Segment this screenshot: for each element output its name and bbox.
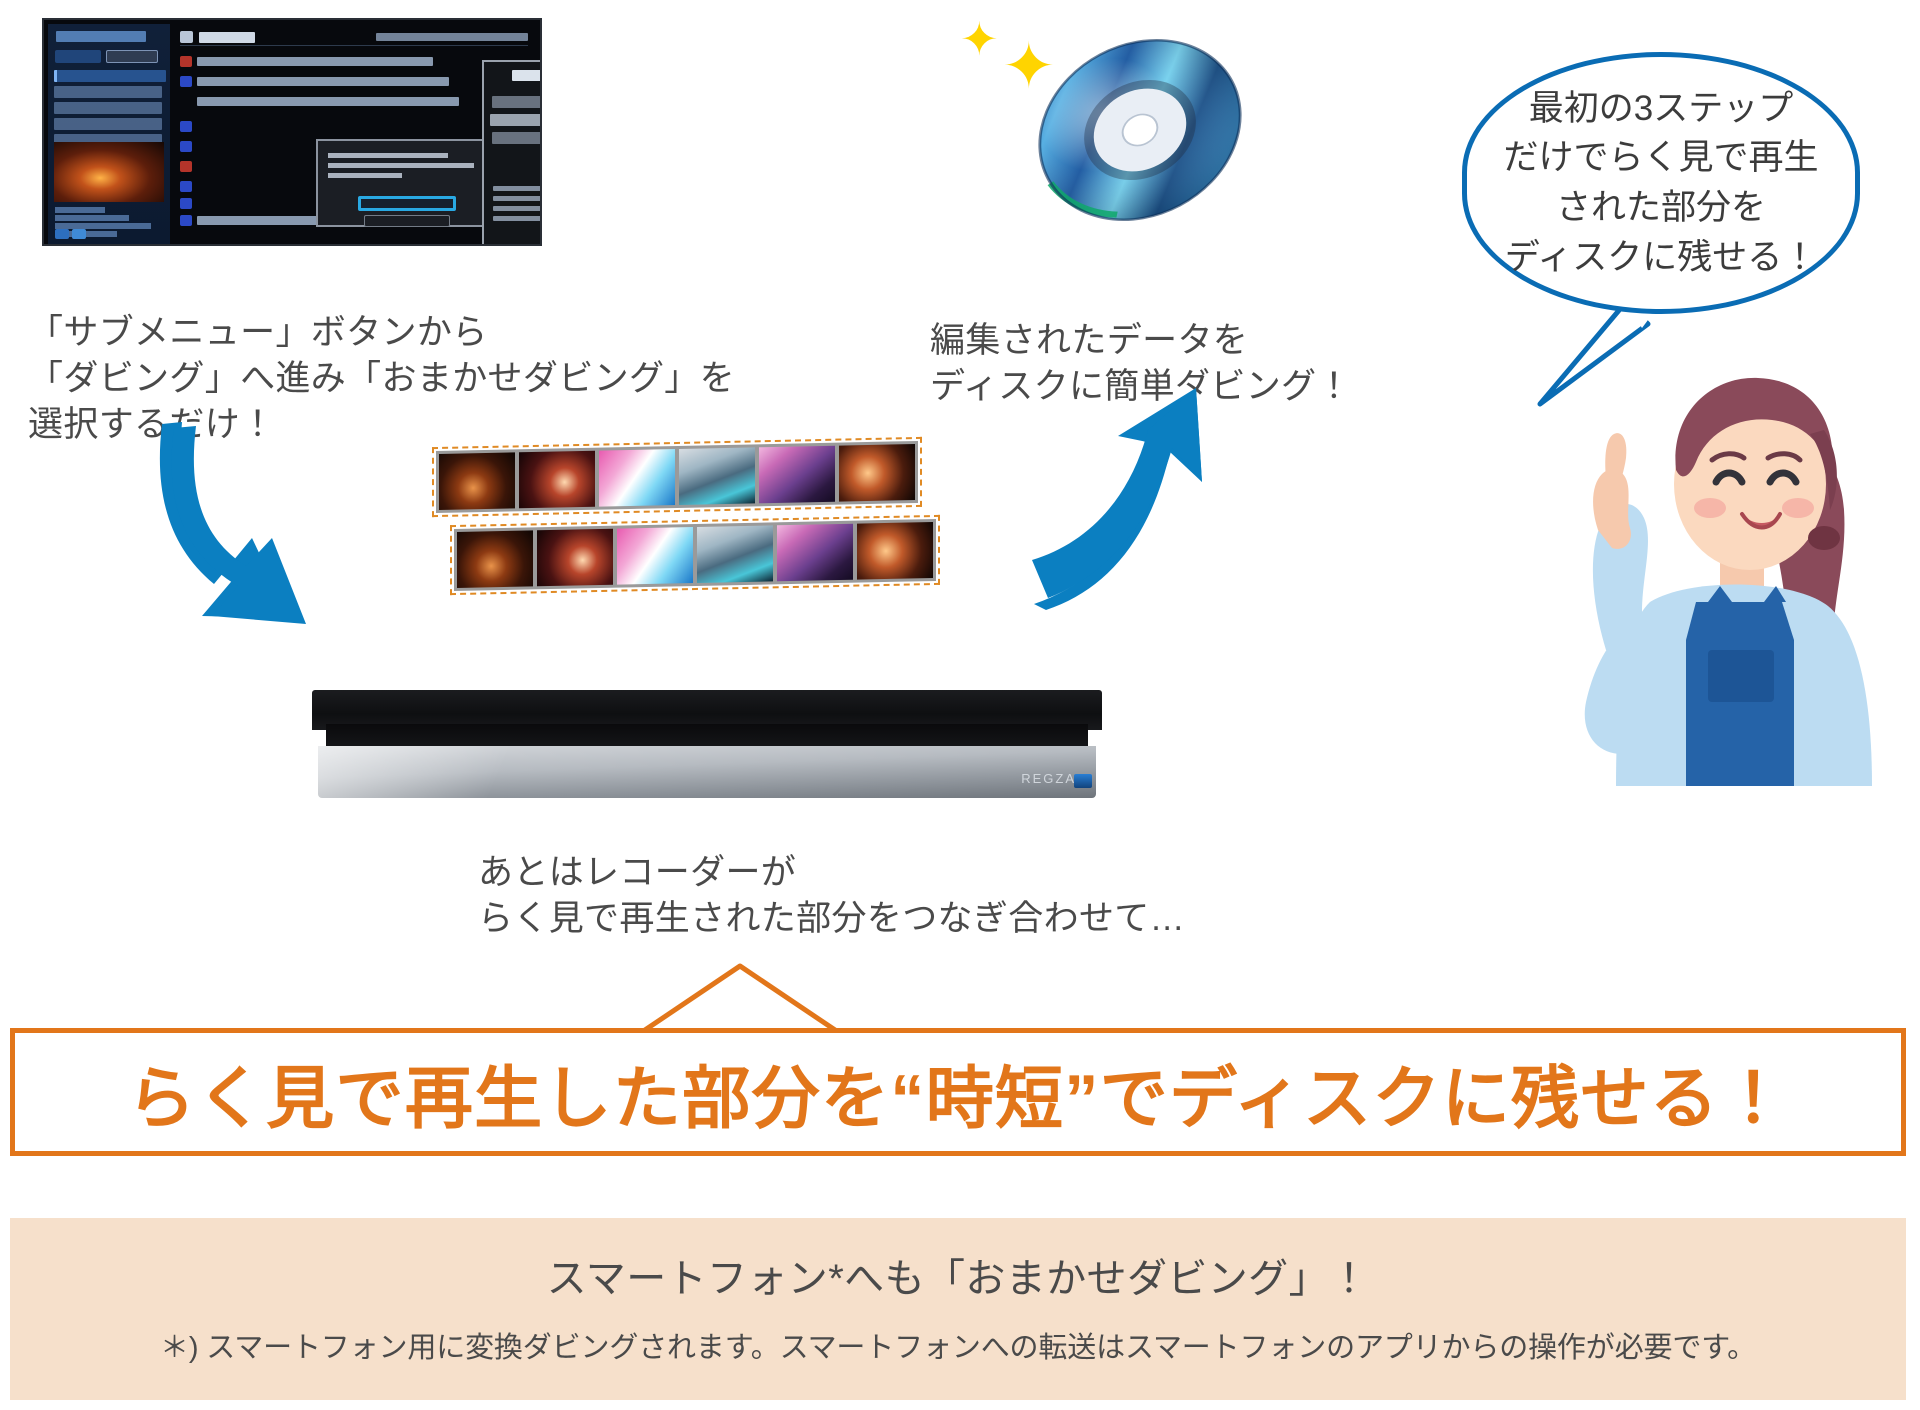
tv-header-info — [376, 33, 528, 41]
row-title — [197, 97, 459, 106]
disc-illustration: ✦ ✦ — [1020, 12, 1260, 252]
tv-list-row[interactable] — [180, 55, 520, 68]
tv-menu-title — [512, 70, 542, 81]
tv-confirm-dialog — [316, 139, 494, 227]
recorder-reflection — [318, 746, 618, 798]
speech-bubble-text: 最初の3ステップ だけでらく見で再生 された部分を ディスクに残せる！ — [1467, 57, 1855, 309]
footer-heading: スマートフォン*へも「おまかせダビング」！ — [10, 1246, 1906, 1304]
tv-chip-0 — [55, 229, 69, 239]
film-frame — [439, 452, 515, 510]
footer-panel: スマートフォン*へも「おまかせダビング」！ ＊) スマートフォン用に変換ダビング… — [10, 1218, 1906, 1400]
film-frame — [839, 444, 915, 502]
filmstrip-source — [454, 519, 936, 591]
film-frame — [679, 447, 755, 505]
row-title — [197, 57, 433, 66]
row-badge-icon — [180, 215, 192, 226]
tv-list-row[interactable] — [180, 75, 520, 88]
down-arrow-icon — [140, 418, 330, 628]
film-frame — [599, 449, 675, 507]
tv-preview-thumbnail — [54, 142, 164, 202]
row-title — [197, 77, 449, 86]
menu-item-easy-dubbing[interactable] — [492, 96, 542, 108]
bluray-recorder: REGZA — [312, 690, 1102, 800]
tv-main-panel — [174, 24, 536, 228]
tv-sidebar — [48, 24, 170, 244]
row-badge-icon — [180, 56, 192, 67]
tv-sidebar-title — [56, 31, 146, 42]
film-frame — [697, 525, 773, 583]
tv-sidebar-item-1[interactable] — [54, 86, 162, 98]
hdd-icon — [180, 31, 193, 43]
row-badge-icon — [180, 141, 192, 152]
headline-banner-text: らく見で再生した部分を“時短”でディスクに残せる！ — [127, 1043, 1788, 1142]
bluray-badge-icon — [1074, 774, 1092, 788]
row-badge-icon — [180, 161, 192, 172]
recorder-brand-label: REGZA — [1021, 771, 1076, 786]
film-frame — [617, 527, 693, 585]
tv-meta-line-0 — [55, 207, 105, 213]
dialog-line-0 — [328, 153, 448, 158]
film-frame — [519, 451, 595, 509]
tv-meta-line-1 — [55, 215, 129, 221]
tv-sidebar-item-2[interactable] — [54, 102, 162, 114]
menu-item-detail-dubbing[interactable] — [492, 132, 542, 144]
sparkle-icon: ✦ — [960, 16, 999, 62]
tv-dubbing-menu — [482, 60, 542, 246]
dialog-line-2 — [328, 173, 402, 178]
film-frame — [537, 529, 613, 587]
sparkle-icon: ✦ — [1002, 34, 1056, 98]
woman-illustration — [1420, 350, 1890, 800]
footer-note: ＊) スマートフォン用に変換ダビングされます。スマートフォンへの転送はスマートフ… — [10, 1324, 1906, 1366]
menu-note-3 — [493, 216, 542, 221]
speech-bubble: 最初の3ステップ だけでらく見で再生 された部分を ディスクに残せる！ — [1462, 52, 1860, 314]
tv-tab-all[interactable] — [55, 50, 101, 63]
step1-caption: 「サブメニュー」ボタンから 「ダビング」へ進み「おまかせダビング」を 選択するだ… — [28, 310, 768, 449]
tv-screen-menu — [42, 18, 542, 246]
dialog-line-1 — [328, 163, 474, 168]
row-badge-icon — [180, 76, 192, 87]
tv-meta-line-2 — [55, 223, 151, 229]
tv-header — [180, 30, 528, 46]
blu-ray-disc-icon — [1020, 12, 1260, 252]
banner-pointer-icon — [640, 962, 840, 1034]
film-frame — [857, 522, 933, 580]
film-frame — [777, 524, 853, 582]
row-badge-icon — [180, 198, 192, 209]
filmstrip-edited — [436, 441, 918, 513]
dialog-ok-button[interactable] — [358, 196, 456, 211]
menu-note-1 — [493, 196, 542, 201]
tv-list-row[interactable] — [180, 95, 520, 108]
film-frame — [759, 446, 835, 504]
film-frame — [457, 530, 533, 588]
dialog-cancel-button[interactable] — [364, 215, 450, 227]
menu-note-2 — [493, 206, 542, 211]
tv-chip-1 — [72, 229, 86, 239]
step3-caption: あとはレコーダーが らく見で再生された部分をつなぎ合わせて… — [478, 850, 1378, 942]
menu-item-omakase-dubbing[interactable] — [490, 114, 542, 126]
speech-bubble-tail — [1530, 298, 1700, 408]
tv-sidebar-item-0[interactable] — [54, 70, 166, 82]
up-arrow-icon — [1020, 372, 1220, 612]
headline-banner: らく見で再生した部分を“時短”でディスクに残せる！ — [10, 1028, 1906, 1156]
infographic-root: 「サブメニュー」ボタンから 「ダビング」へ進み「おまかせダビング」を 選択するだ… — [0, 0, 1920, 1410]
tv-header-label — [199, 32, 255, 43]
row-badge-icon — [180, 121, 192, 132]
row-badge-icon — [180, 181, 192, 192]
tv-sidebar-item-3[interactable] — [54, 118, 162, 130]
tv-tab-genre[interactable] — [106, 50, 158, 63]
menu-note-0 — [493, 186, 542, 191]
